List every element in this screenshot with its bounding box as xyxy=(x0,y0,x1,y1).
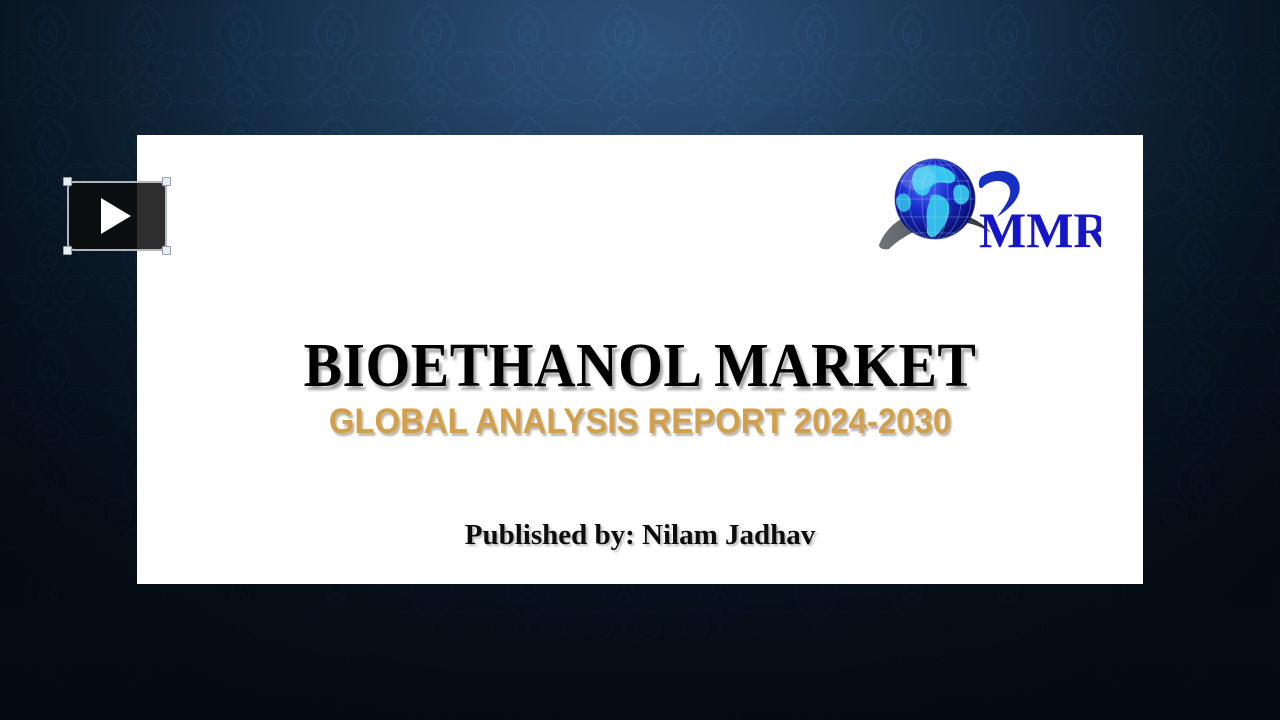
mmr-logo: MMR xyxy=(873,149,1101,265)
title-block[interactable]: BIOETHANOL MARKET GLOBAL ANALYSIS REPORT… xyxy=(137,335,1143,441)
presentation-viewport: MMR BIOETHANOL MARKET GLOBAL ANALYSIS RE… xyxy=(0,0,1280,720)
page-subtitle: GLOBAL ANALYSIS REPORT 2024-2030 xyxy=(167,404,1113,441)
selection-handle-bottom-left[interactable] xyxy=(63,246,72,255)
selection-handle-top-left[interactable] xyxy=(63,177,72,186)
play-icon[interactable] xyxy=(101,198,131,234)
slide-canvas[interactable]: MMR BIOETHANOL MARKET GLOBAL ANALYSIS RE… xyxy=(137,135,1143,584)
play-button-frame[interactable] xyxy=(67,181,167,251)
media-play-control[interactable] xyxy=(67,181,167,251)
page-title: BIOETHANOL MARKET xyxy=(172,335,1108,398)
selection-handle-bottom-right[interactable] xyxy=(162,246,171,255)
selection-handle-top-right[interactable] xyxy=(162,177,171,186)
mmr-wordmark: MMR xyxy=(979,202,1101,258)
author-line: Published by: Nilam Jadhav xyxy=(137,519,1143,552)
